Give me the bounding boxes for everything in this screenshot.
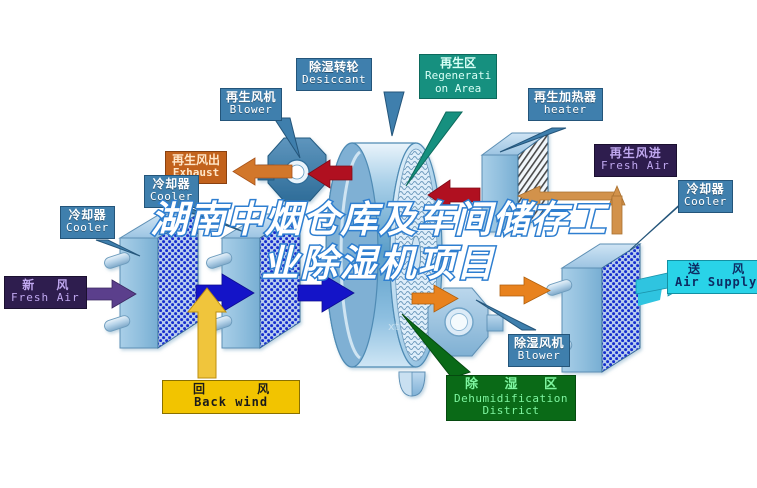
label-regeneration-heater-cn: 再生加热器 (534, 91, 597, 104)
label-regeneration-blower-cn: 再生风机 (226, 91, 276, 104)
cooler-coil-left-1 (103, 214, 198, 348)
label-regeneration-blower[interactable]: 再生风机 Blower (220, 88, 282, 121)
label-regeneration-area[interactable]: 再生区 Regenerati on Area (419, 54, 497, 99)
label-cooler-left-lower-en: Cooler (66, 222, 109, 234)
label-regeneration-heater-en: heater (534, 104, 597, 116)
label-cooler-left-upper-cn: 冷却器 (150, 178, 193, 191)
label-dehumidification-district-cn: 除 湿 区 (454, 378, 568, 393)
label-air-supply[interactable]: 送 风 Air Supply (667, 260, 757, 294)
label-cooler-right[interactable]: 冷却器 Cooler (678, 180, 733, 213)
label-dehumidification-district[interactable]: 除 湿 区 Dehumidification District (446, 375, 576, 421)
schematic-artwork: xt (0, 0, 757, 488)
regeneration-heater-coil (482, 133, 548, 232)
label-dehumidification-blower-cn: 除湿风机 (514, 337, 564, 350)
label-desiccant-wheel[interactable]: 除湿转轮 Desiccant (296, 58, 372, 91)
label-back-wind-cn: 回 风 (169, 383, 293, 396)
label-dehumidification-district-en1: Dehumidification (454, 393, 568, 405)
rotor-base (399, 372, 425, 396)
label-air-supply-cn: 送 风 (674, 263, 757, 276)
label-back-wind-en: Back wind (169, 396, 293, 409)
label-dehumidification-blower[interactable]: 除湿风机 Blower (508, 334, 570, 367)
rotor-watermark: xt (388, 320, 400, 333)
label-cooler-right-en: Cooler (684, 196, 727, 208)
label-cooler-left-lower[interactable]: 冷却器 Cooler (60, 206, 115, 239)
diagram-canvas: xt (0, 0, 757, 488)
dry-air-arrow-2 (500, 277, 550, 304)
label-air-supply-en: Air Supply (674, 276, 757, 289)
label-desiccant-wheel-en: Desiccant (302, 74, 366, 86)
cooler-coil-left-2 (205, 214, 300, 348)
label-regeneration-fresh-air-en: Fresh Air (601, 160, 670, 172)
label-desiccant-wheel-cn: 除湿转轮 (302, 61, 366, 74)
regen-inlet-arrow (518, 186, 617, 206)
label-fresh-air-inlet[interactable]: 新 风 Fresh Air (4, 276, 87, 309)
label-regeneration-area-en1: Regenerati (425, 70, 491, 82)
label-regeneration-blower-en: Blower (226, 104, 276, 116)
label-regeneration-exhaust-cn: 再生风出 (172, 154, 220, 167)
label-cooler-left-upper-en: Cooler (150, 191, 193, 203)
label-fresh-air-inlet-en: Fresh Air (11, 292, 80, 304)
label-cooler-left-upper[interactable]: 冷却器 Cooler (144, 175, 199, 208)
label-fresh-air-inlet-cn: 新 风 (11, 279, 80, 292)
label-cooler-right-cn: 冷却器 (684, 183, 727, 196)
label-regeneration-area-cn: 再生区 (425, 57, 491, 70)
label-back-wind[interactable]: 回 风 Back wind (162, 380, 300, 414)
label-regeneration-heater[interactable]: 再生加热器 heater (528, 88, 603, 121)
label-dehumidification-blower-en: Blower (514, 350, 564, 362)
label-dehumidification-district-en2: District (454, 405, 568, 417)
label-cooler-left-lower-cn: 冷却器 (66, 209, 109, 222)
label-regeneration-area-en2: on Area (425, 83, 491, 95)
label-regeneration-fresh-air[interactable]: 再生风进 Fresh Air (594, 144, 677, 177)
label-regeneration-fresh-air-cn: 再生风进 (601, 147, 670, 160)
